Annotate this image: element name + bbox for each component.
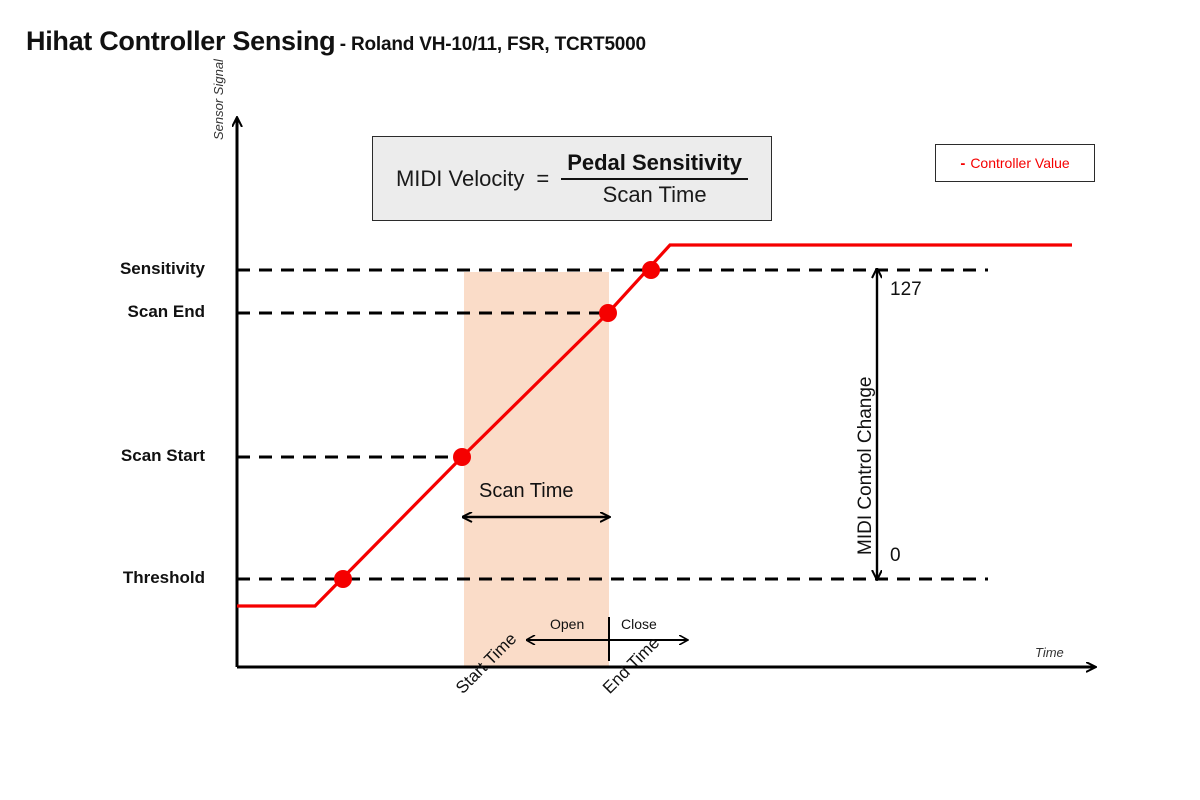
x-axis-title: Time bbox=[1035, 645, 1064, 660]
data-point-scan-start bbox=[453, 448, 471, 466]
formula-box: MIDI Velocity = Pedal Sensitivity Scan T… bbox=[372, 136, 772, 221]
ytick-scan-start: Scan Start bbox=[0, 446, 205, 466]
chart-svg bbox=[0, 0, 1200, 800]
open-label: Open bbox=[550, 616, 584, 632]
chart-area: Sensor Signal Time Sensitivity Scan End … bbox=[0, 0, 1200, 800]
data-point-sensitivity bbox=[642, 261, 660, 279]
formula-expression: MIDI Velocity = Pedal Sensitivity Scan T… bbox=[396, 150, 748, 208]
legend-line-marker: - bbox=[960, 156, 965, 171]
ytick-threshold-label: Threshold bbox=[123, 568, 205, 588]
legend: - Controller Value bbox=[935, 144, 1095, 182]
scan-time-label: Scan Time bbox=[479, 480, 573, 503]
formula-fraction: Pedal Sensitivity Scan Time bbox=[561, 150, 748, 208]
formula-left-term: MIDI Velocity bbox=[396, 166, 524, 192]
data-point-scan-end bbox=[599, 304, 617, 322]
midi-control-change-label: MIDI Control Change bbox=[855, 377, 877, 555]
ytick-scan-start-label: Scan Start bbox=[121, 446, 205, 466]
ytick-threshold: Threshold bbox=[0, 568, 205, 588]
ytick-sensitivity-label: Sensitivity bbox=[120, 259, 205, 279]
ytick-sensitivity: Sensitivity bbox=[0, 259, 205, 279]
ytick-scan-end-label: Scan End bbox=[128, 302, 205, 322]
ytick-scan-end: Scan End bbox=[0, 302, 205, 322]
diagram-root: Hihat Controller Sensing - Roland VH-10/… bbox=[0, 0, 1200, 800]
formula-numerator: Pedal Sensitivity bbox=[561, 150, 748, 178]
formula-equals-sign: = bbox=[534, 166, 551, 192]
close-label: Close bbox=[621, 616, 657, 632]
formula-denominator: Scan Time bbox=[597, 180, 713, 208]
data-point-threshold bbox=[334, 570, 352, 588]
midi-max-label: 127 bbox=[890, 279, 922, 301]
legend-label: Controller Value bbox=[970, 155, 1069, 171]
controller-value-curve bbox=[237, 245, 1072, 606]
y-axis-title: Sensor Signal bbox=[211, 59, 226, 140]
midi-min-label: 0 bbox=[890, 545, 901, 567]
